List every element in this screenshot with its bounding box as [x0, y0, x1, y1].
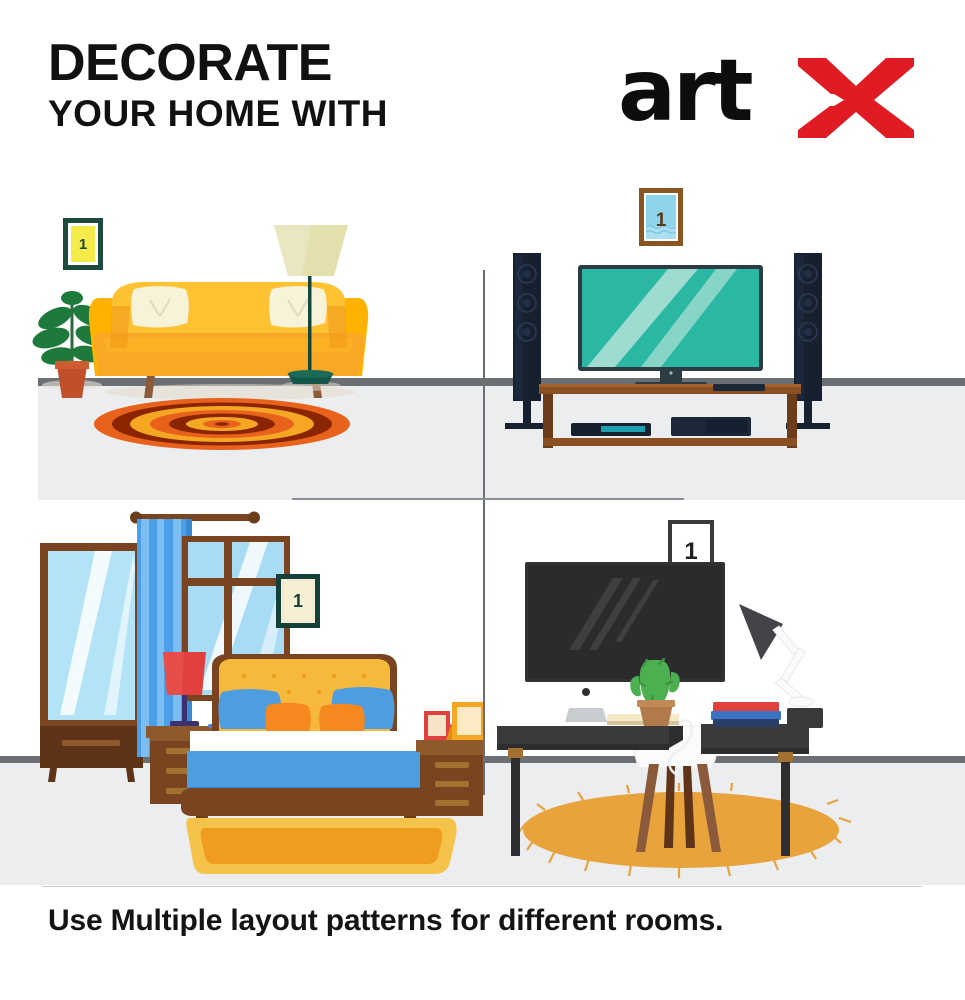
brand-logo: art — [618, 48, 918, 140]
scene-home-office[interactable]: 1 — [483, 500, 965, 885]
area-rug-icon — [186, 818, 456, 874]
scene-divider-horizontal — [292, 498, 684, 500]
scene-divider-vertical — [483, 270, 485, 795]
logo-wordmark: art — [618, 48, 751, 134]
oval-rug-icon — [94, 398, 350, 450]
footer-rule — [42, 886, 922, 887]
wall-frame-bedroom[interactable]: 1 — [276, 574, 320, 628]
headline-block: DECORATE YOUR HOME WITH — [48, 38, 388, 136]
books-icon — [711, 702, 781, 727]
wall-frame-living[interactable]: 1 — [63, 218, 103, 270]
bed-icon — [181, 654, 431, 844]
desk-box-icon — [787, 708, 823, 728]
footer-caption: Use Multiple layout patterns for differe… — [48, 904, 723, 938]
scene-living-room[interactable]: 1 — [0, 170, 483, 500]
standing-mirror-icon — [40, 543, 143, 782]
scene-grid: 1 — [0, 170, 965, 885]
bed-pillow-orange-left — [265, 703, 311, 732]
flat-tv-icon — [578, 265, 763, 387]
frame-number-tv: 1 — [656, 210, 667, 231]
frame-number-bedroom: 1 — [293, 591, 303, 611]
headline-line-1: DECORATE — [48, 38, 388, 88]
frame-number-living: 1 — [79, 236, 87, 253]
scene-bedroom[interactable]: 1 — [0, 500, 483, 885]
scene-tv-room[interactable]: 1 — [483, 170, 965, 500]
poster-canvas: DECORATE YOUR HOME WITH art — [0, 0, 965, 1000]
logo-x-mark — [796, 56, 916, 140]
header: DECORATE YOUR HOME WITH art — [0, 0, 965, 170]
headline-line-2: YOUR HOME WITH — [48, 92, 388, 136]
soundbar-icon — [713, 384, 765, 391]
bed-pillow-orange-right — [319, 704, 365, 733]
nightstand-right-icon — [416, 702, 483, 816]
frame-number-office: 1 — [684, 538, 697, 565]
wall-frame-tv[interactable]: 1 — [639, 188, 683, 246]
